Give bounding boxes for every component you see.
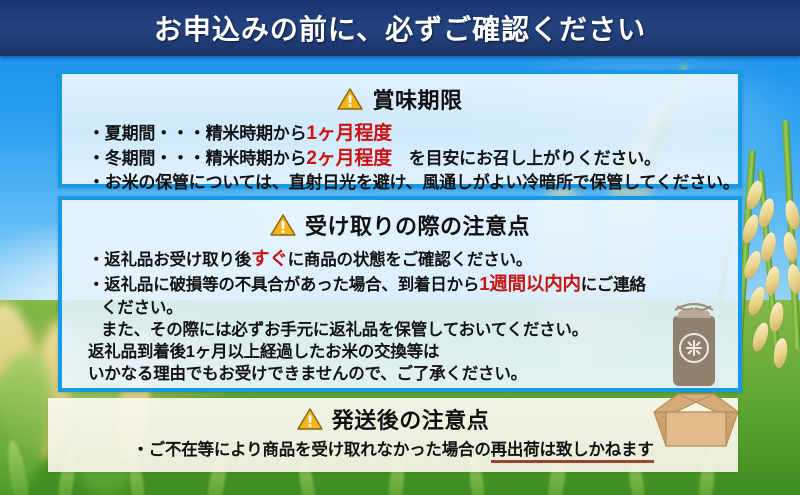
panel-shipping-header: 発送後の注意点 [48,403,738,435]
line-text: ・ご不在等により商品を受け取れなかった場合の [132,441,490,459]
panel-expiry-line-1: ・夏期間・・・精米時期から1ヶ月程度 [88,121,712,146]
warning-triangle-icon [270,213,296,237]
panel-expiry-title: 賞味期限 [372,83,462,115]
panel-receipt-title: 受け取りの際の注意点 [305,209,530,241]
line-highlight: 1ヶ月程度 [306,123,392,144]
panel-shipping: 発送後の注意点 ・ご不在等により商品を受け取れなかった場合の再出荷は致しかねます [48,398,738,472]
panel-receipt-header: 受け取りの際の注意点 [62,209,738,241]
panel-expiry-header: 賞味期限 [62,83,738,115]
banner-root: お申込みの前に、必ずご確認ください 賞味期限 ・夏期間・・・精米時期から1ヶ月程… [0,0,800,495]
line-highlight: 2ヶ月程度 [306,148,392,169]
banner-header: お申込みの前に、必ずご確認ください [0,0,800,56]
line-text: ・冬期間・・・精米時期から [88,149,306,168]
panel-receipt-line-4: また、その際には必ずお手元に返礼品を保管しておいてください。 [88,319,712,341]
line-text: ・お米の保管については、直射日光を避け、風通しがよい冷暗所で保管してください。 [88,173,740,192]
line-highlight: すぐ [251,248,288,269]
line-highlight: 1週間以内内 [479,273,581,294]
line-text: ・夏期間・・・精米時期から [88,124,306,143]
line-text: ・返礼品に破損等の不具合があった場合、到着日から [88,276,479,294]
cardboard-box-illustration [648,386,744,452]
line-suffix: にご連絡 [581,276,646,294]
line-suffix: に商品の状態をご確認ください。 [288,251,533,269]
panel-receipt-line-3: ください。 [88,297,712,319]
panel-shipping-title: 発送後の注意点 [332,403,490,435]
warning-triangle-icon [297,407,323,431]
panel-receipt-line-5: 返礼品到着後1ヶ月以上経過したお米の交換等は [88,341,712,363]
line-highlight: 再出荷は致しかねます [491,441,654,463]
panel-expiry-body: ・夏期間・・・精米時期から1ヶ月程度 ・冬期間・・・精米時期から2ヶ月程度 を目… [88,121,712,195]
panel-receipt-line-1: ・返礼品お受け取り後すぐに商品の状態をご確認ください。 [88,247,712,272]
warning-triangle-icon [337,87,363,111]
panel-receipt-body: ・返礼品お受け取り後すぐに商品の状態をご確認ください。 ・返礼品に破損等の不具合… [88,247,712,385]
panel-receipt: 受け取りの際の注意点 ・返礼品お受け取り後すぐに商品の状態をご確認ください。 ・… [58,196,742,392]
panel-expiry-line-3: ・お米の保管については、直射日光を避け、風通しがよい冷暗所で保管してください。 [88,172,712,195]
panel-shipping-line-1: ・ご不在等により商品を受け取れなかった場合の再出荷は致しかねます [74,439,712,461]
panel-receipt-line-6: いかなる理由でもお受けできませんので、ご了承ください。 [88,363,712,385]
panel-shipping-body: ・ご不在等により商品を受け取れなかった場合の再出荷は致しかねます [74,439,712,461]
page-title: お申込みの前に、必ずご確認ください [154,8,646,48]
rice-bag-illustration [655,296,733,396]
line-suffix: を目安にお召し上がりください。 [392,149,661,168]
panel-expiry-line-2: ・冬期間・・・精米時期から2ヶ月程度 を目安にお召し上がりください。 [88,146,712,171]
line-text: ・返礼品お受け取り後 [88,251,251,269]
panel-receipt-line-2: ・返礼品に破損等の不具合があった場合、到着日から1週間以内内にご連絡 [88,272,712,297]
panel-expiry: 賞味期限 ・夏期間・・・精米時期から1ヶ月程度 ・冬期間・・・精米時期から2ヶ月… [58,70,742,188]
